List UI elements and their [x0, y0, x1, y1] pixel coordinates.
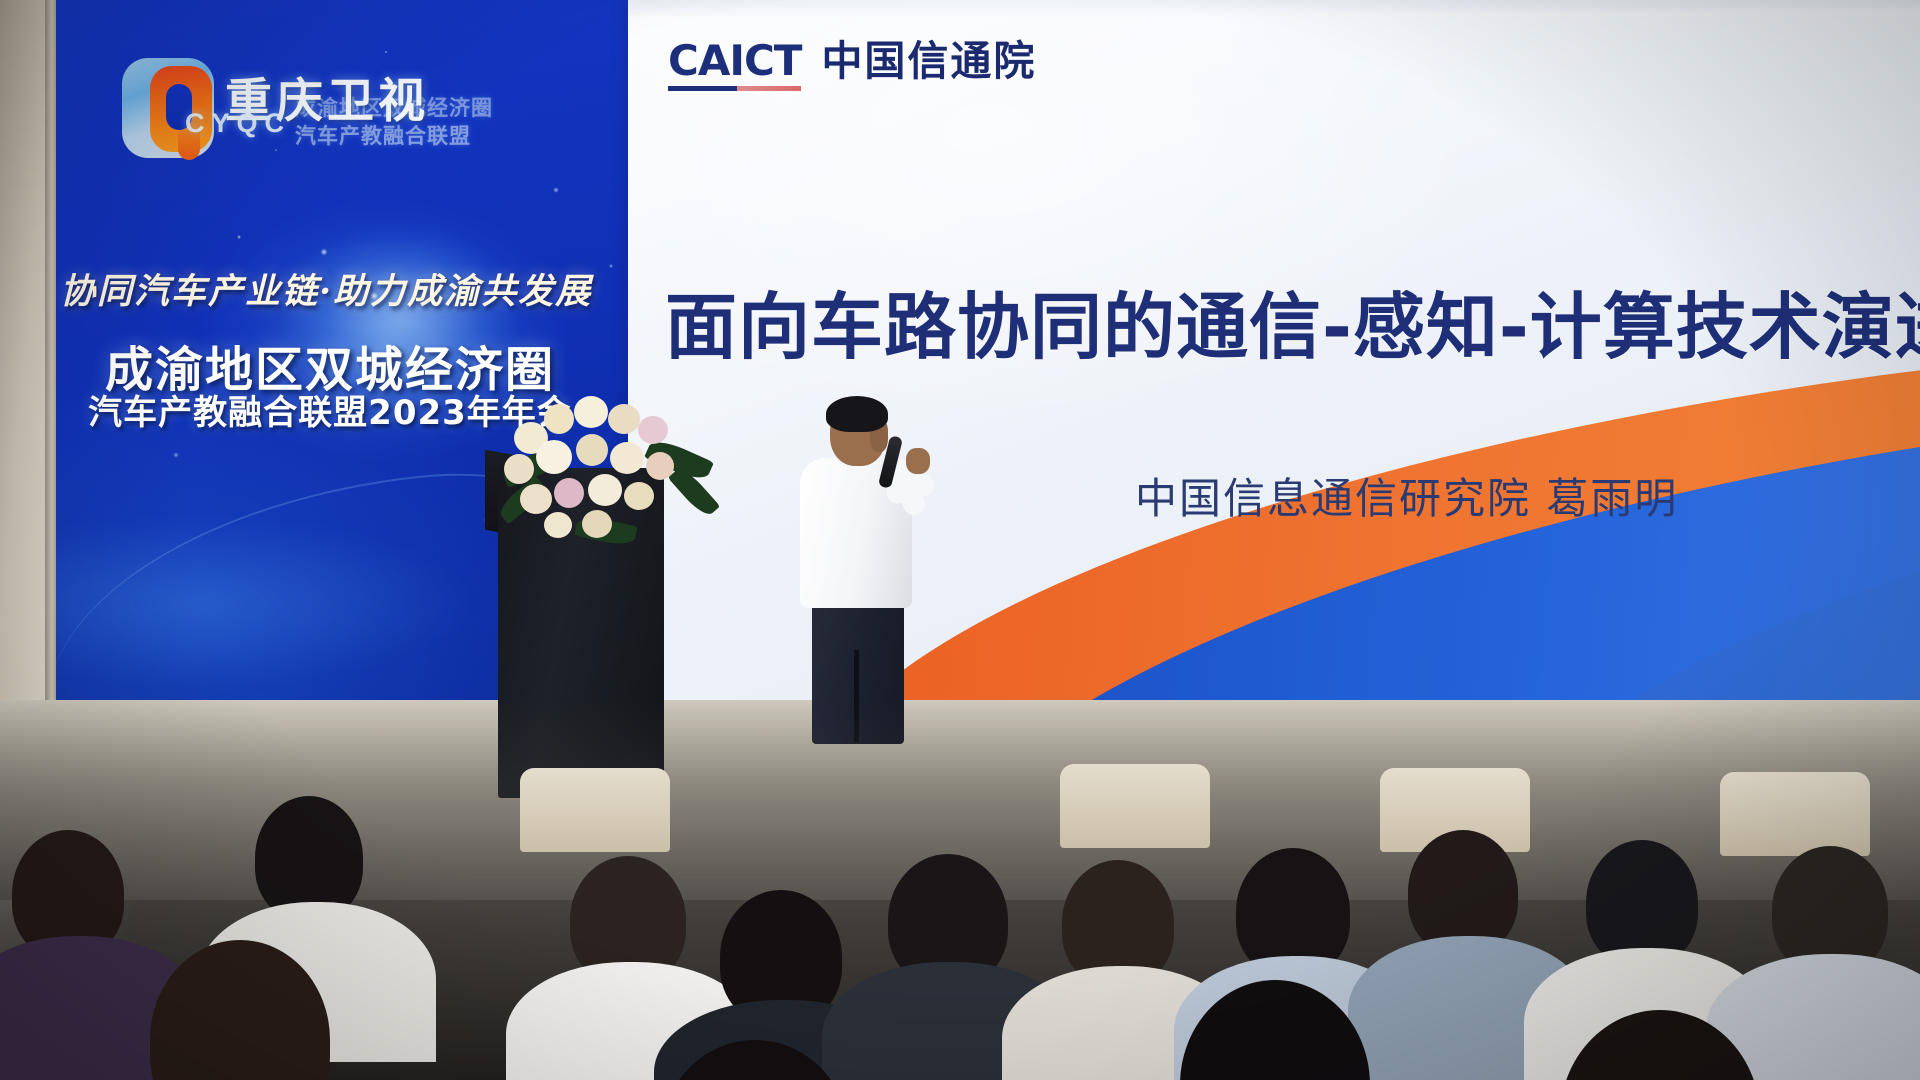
speaker-hand	[906, 448, 930, 474]
backdrop-slogan: 协同汽车产业链·助力成渝共发展	[60, 263, 590, 314]
caict-logo: CAICT 中国信通院	[668, 40, 1036, 82]
logo-pinyin-mark: CYQC	[185, 108, 291, 139]
screen-top-band	[628, 0, 1920, 16]
flower-arrangement	[496, 386, 712, 556]
caict-logo-en: CAICT	[668, 40, 801, 82]
speaker-hair	[826, 396, 888, 432]
broadcast-frame: 成渝地区双城经济圈 汽车产教融合联盟 重庆卫视 CYQC 协同汽车产业链·助力成…	[0, 0, 1920, 1080]
caict-wordmark: CAICT	[668, 40, 801, 82]
caict-logo-cn: 中国信通院	[821, 41, 1036, 82]
slide-title: 面向车路协同的通信-感知-计算技术演进	[665, 268, 1920, 373]
caict-logo-rule	[668, 86, 801, 91]
lower-third-graphics: 用手机 看联播	[0, 820, 1920, 1080]
slide-speaker-byline: 中国信息通信研究院 葛雨明	[1135, 465, 1678, 526]
